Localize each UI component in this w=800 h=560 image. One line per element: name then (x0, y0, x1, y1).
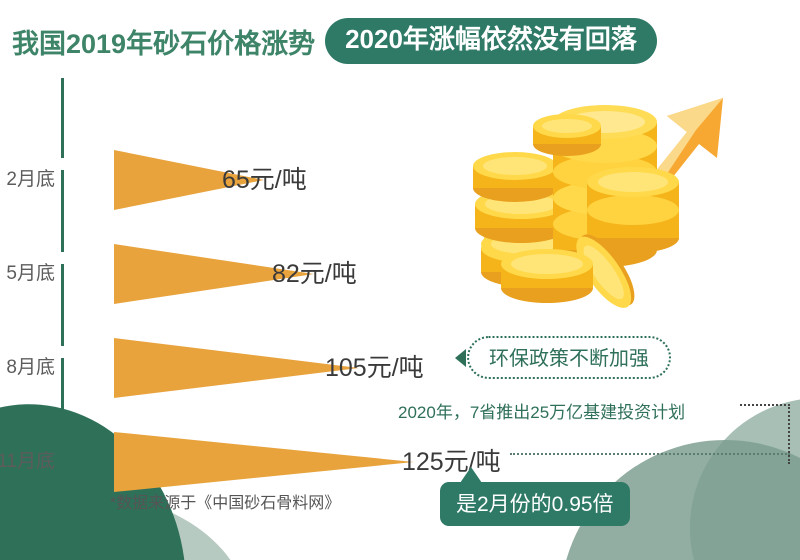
dotted-bracket-right (788, 404, 790, 464)
triangle-left-icon (455, 349, 466, 367)
data-row: 5月底 82元/吨 (0, 239, 800, 309)
row-value: 65元/吨 (222, 145, 307, 215)
row-label-period: 11月底 (0, 427, 55, 497)
page-title: 我国2019年砂石价格涨势 (12, 22, 315, 61)
headline-badge: 2020年涨幅依然没有回落 (325, 18, 657, 64)
header: 我国2019年砂石价格涨势 2020年涨幅依然没有回落 (0, 0, 800, 82)
data-row: 11月底 125元/吨 (0, 427, 800, 497)
ratio-badge: 是2月份的0.95倍 (440, 482, 630, 526)
dotted-bracket-top (740, 404, 790, 406)
data-row: 2月底 65元/吨 (0, 145, 800, 215)
triangle-up-icon (460, 467, 482, 483)
row-label-period: 5月底 (0, 239, 55, 309)
row-value: 82元/吨 (272, 239, 357, 309)
row-label-period: 2月底 (0, 145, 55, 215)
dotted-leader-line (510, 453, 790, 455)
row-value: 105元/吨 (325, 333, 424, 403)
callout-infrastructure-label: 2020年，7省推出25万亿基建投资计划 (398, 398, 685, 423)
source-note: *数据来源于《中国砂石骨料网》 (110, 489, 340, 513)
data-row: 8月底 105元/吨 (0, 333, 800, 403)
callout-policy: 环保政策不断加强 (455, 336, 671, 379)
row-label-period: 8月底 (0, 333, 55, 403)
triangle-right-icon (114, 432, 414, 492)
triangle-right-icon (114, 338, 359, 398)
infographic-canvas: 我国2019年砂石价格涨势 2020年涨幅依然没有回落 (0, 0, 800, 560)
callout-policy-label: 环保政策不断加强 (467, 336, 671, 379)
